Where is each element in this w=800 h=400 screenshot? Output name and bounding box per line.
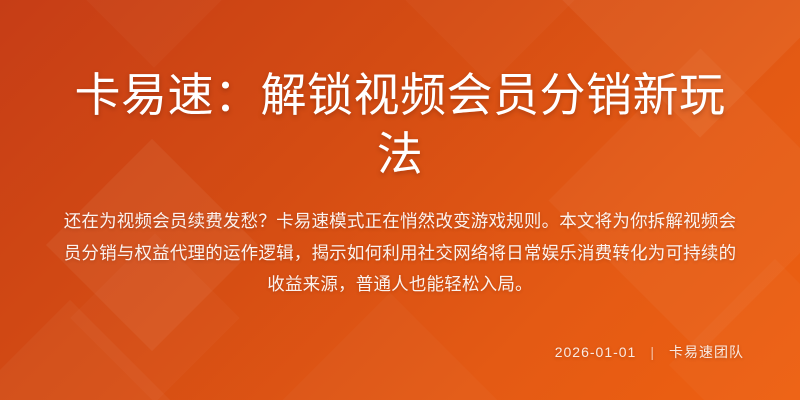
- footer-separator: |: [650, 344, 655, 360]
- cover-footer: 2026-01-01 | 卡易速团队: [555, 342, 744, 362]
- page-subtitle: 还在为视频会员续费发愁？卡易速模式正在悄然改变游戏规则。本文将为你拆解视频会员分…: [56, 184, 744, 302]
- cover-content: 卡易速：解锁视频会员分销新玩法 还在为视频会员续费发愁？卡易速模式正在悄然改变游…: [0, 0, 800, 400]
- page-title: 卡易速：解锁视频会员分销新玩法: [56, 0, 744, 184]
- article-cover-banner: 卡易速：解锁视频会员分销新玩法 还在为视频会员续费发愁？卡易速模式正在悄然改变游…: [0, 0, 800, 400]
- publish-date: 2026-01-01: [555, 344, 637, 360]
- author-name: 卡易速团队: [669, 342, 744, 362]
